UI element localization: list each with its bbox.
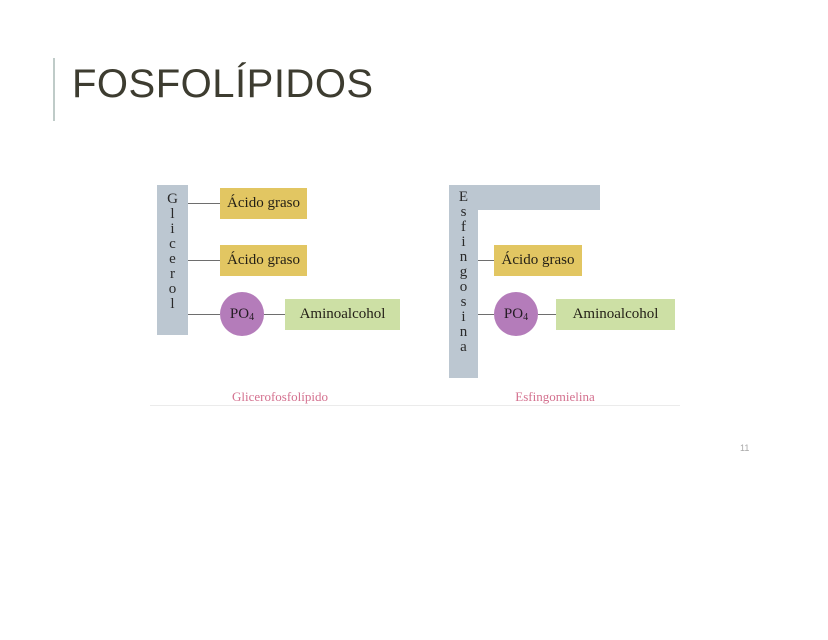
connector-line xyxy=(188,314,220,315)
backbone-letter: G xyxy=(167,192,178,207)
connector-line xyxy=(478,314,494,315)
backbone-letter: i xyxy=(170,222,174,237)
glicerol-backbone-label: G l i c e r o l xyxy=(157,192,188,312)
fatty-acid-box: Ácido graso xyxy=(220,245,307,276)
connector-line xyxy=(478,260,494,261)
diagram-caption: Esfingomielina xyxy=(485,389,625,405)
connector-line xyxy=(538,314,556,315)
figure-baseline-divider xyxy=(150,405,680,406)
aminoalcohol-box: Aminoalcohol xyxy=(285,299,400,330)
backbone-letter: n xyxy=(460,325,468,340)
backbone-letter: s xyxy=(461,205,467,220)
backbone-letter: s xyxy=(461,295,467,310)
esfingosina-backbone-label: E s f i n g o s i n a xyxy=(449,190,478,355)
backbone-letter: o xyxy=(460,280,468,295)
backbone-letter: e xyxy=(169,252,176,267)
backbone-letter: l xyxy=(170,207,174,222)
backbone-letter: c xyxy=(169,237,176,252)
backbone-letter: f xyxy=(461,220,466,235)
fatty-acid-box: Ácido graso xyxy=(494,245,582,276)
phosphate-circle: PO4 xyxy=(220,292,264,336)
backbone-letter: l xyxy=(170,297,174,312)
diagram-caption: Glicerofosfolípido xyxy=(200,389,360,405)
page-number: 11 xyxy=(740,443,749,453)
aminoalcohol-box: Aminoalcohol xyxy=(556,299,675,330)
backbone-letter: g xyxy=(460,265,468,280)
connector-line xyxy=(188,260,220,261)
phosphate-label: PO xyxy=(504,306,523,323)
connector-line xyxy=(264,314,285,315)
backbone-letter: n xyxy=(460,250,468,265)
backbone-letter: a xyxy=(460,340,467,355)
phosphate-circle: PO4 xyxy=(494,292,538,336)
phospholipid-figure: G l i c e r o l Ácido graso Ácido graso … xyxy=(0,0,828,640)
backbone-letter: i xyxy=(461,310,465,325)
backbone-letter: i xyxy=(461,235,465,250)
phosphate-subscript: 4 xyxy=(249,312,254,323)
connector-line xyxy=(188,203,220,204)
phosphate-subscript: 4 xyxy=(523,312,528,323)
fatty-acid-box: Ácido graso xyxy=(220,188,307,219)
slide-canvas: FOSFOLÍPIDOS G l i c e r o l Ácido graso… xyxy=(0,0,828,640)
backbone-letter: E xyxy=(459,190,468,205)
backbone-letter: o xyxy=(169,282,177,297)
backbone-letter: r xyxy=(170,267,175,282)
phosphate-label: PO xyxy=(230,306,249,323)
esfingosina-backbone-arm xyxy=(478,185,600,210)
